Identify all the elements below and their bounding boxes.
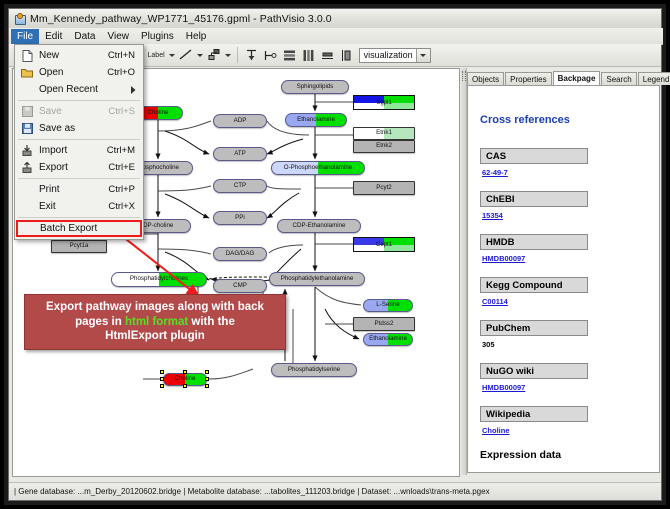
menu-item-print-label: Print	[39, 184, 108, 195]
menu-item-batch-export[interactable]: Batch Export	[16, 220, 142, 237]
tab-objects[interactable]: Objects	[467, 72, 504, 85]
menu-item-open[interactable]: Open Ctrl+O	[15, 64, 143, 81]
window-title: Mm_Kennedy_pathway_WP1771_45176.gpml - P…	[30, 13, 332, 25]
import-icon	[15, 145, 39, 156]
menu-item-exit-shortcut: Ctrl+X	[108, 201, 135, 212]
new-document-icon	[15, 50, 39, 62]
xref-value-wikipedia[interactable]: Choline	[482, 426, 510, 435]
file-menu-dropdown[interactable]: New Ctrl+N Open Ctrl+O Open Recent Save …	[14, 44, 144, 240]
menu-bar: File Edit Data View Plugins Help	[9, 28, 663, 45]
toolbar-divider-2	[237, 47, 238, 63]
xref-value-chebi[interactable]: 15354	[482, 211, 503, 220]
menu-item-save-label: Save	[39, 106, 108, 117]
pathvisio-window: Mm_Kennedy_pathway_WP1771_45176.gpml - P…	[8, 8, 662, 501]
menu-item-print-shortcut: Ctrl+P	[108, 184, 135, 195]
menu-separator-2	[18, 139, 140, 140]
menu-help[interactable]: Help	[180, 29, 213, 44]
status-bar-text: | Gene database: ...m_Derby_20120602.bri…	[14, 487, 490, 496]
cross-references-title: Cross references	[480, 114, 570, 126]
menu-item-open-recent-label: Open Recent	[39, 84, 131, 95]
xref-header-kegg: Kegg Compound	[480, 277, 588, 293]
submenu-arrow-icon	[131, 81, 136, 99]
same-width-icon[interactable]	[319, 47, 336, 64]
annotation-callout-text: Export pathway images along with back pa…	[46, 300, 264, 344]
menu-item-export[interactable]: Export Ctrl+E	[15, 159, 143, 176]
menu-item-new-label: New	[39, 50, 108, 61]
open-folder-icon	[15, 68, 39, 78]
backpage-content: Cross references CAS 62-49-7 ChEBI 15354…	[467, 85, 660, 473]
xref-header-hmdb: HMDB	[480, 234, 588, 250]
align-top-icon[interactable]	[243, 47, 260, 64]
label-tool-text: Label	[146, 52, 167, 59]
menu-separator-3	[18, 178, 140, 179]
menu-item-open-label: Open	[39, 67, 107, 78]
line-icon[interactable]	[178, 47, 195, 64]
line-dropdown-icon[interactable]	[196, 47, 205, 63]
menu-edit[interactable]: Edit	[39, 29, 68, 44]
save-as-disk-icon	[15, 123, 39, 134]
visualization-value: visualization	[364, 50, 413, 60]
menu-item-open-recent[interactable]: Open Recent	[15, 81, 143, 98]
menu-file[interactable]: File	[11, 29, 39, 44]
menu-item-open-shortcut: Ctrl+O	[107, 67, 135, 78]
distribute-horizontal-icon[interactable]	[300, 47, 317, 64]
xref-header-wikipedia: Wikipedia	[480, 406, 588, 422]
xref-header-pubchem: PubChem	[480, 320, 588, 336]
visualization-combobox[interactable]: visualization	[359, 48, 431, 63]
menu-item-export-shortcut: Ctrl+E	[108, 162, 135, 173]
menu-item-export-label: Export	[39, 162, 108, 173]
save-disk-icon	[15, 106, 39, 117]
xref-value-pubchem: 305	[482, 340, 495, 349]
xref-header-nugo: NuGO wiki	[480, 363, 588, 379]
export-icon	[15, 162, 39, 173]
chevron-down-icon-2[interactable]	[416, 49, 430, 62]
xref-value-nugo[interactable]: HMDB00097	[482, 383, 525, 392]
tab-search[interactable]: Search	[601, 72, 636, 85]
same-height-icon[interactable]	[338, 47, 355, 64]
menu-item-import-shortcut: Ctrl+M	[107, 145, 135, 156]
callout-line2-a: pages in	[75, 316, 125, 328]
callout-line2-highlight: html format	[125, 316, 188, 328]
menu-item-save-as[interactable]: Save as	[15, 120, 143, 137]
side-panel-tabs: Objects Properties Backpage Search Legen…	[467, 70, 660, 86]
callout-line2-b: with the	[188, 316, 235, 328]
xref-value-kegg[interactable]: C00114	[482, 297, 508, 306]
menu-item-save-as-label: Save as	[39, 123, 135, 134]
xref-value-hmdb[interactable]: HMDB00097	[482, 254, 525, 263]
tab-properties[interactable]: Properties	[505, 72, 551, 85]
menu-item-import-label: Import	[39, 145, 107, 156]
annotation-callout: Export pathway images along with back pa…	[24, 294, 286, 350]
menu-item-new-shortcut: Ctrl+N	[108, 50, 135, 61]
xref-header-chebi: ChEBI	[480, 191, 588, 207]
menu-separator-4	[18, 217, 140, 218]
menu-item-save: Save Ctrl+S	[15, 103, 143, 120]
expression-data-title: Expression data	[480, 449, 561, 461]
menu-item-exit[interactable]: Exit Ctrl+X	[15, 198, 143, 215]
menu-item-exit-label: Exit	[39, 201, 108, 212]
status-bar: | Gene database: ...m_Derby_20120602.bri…	[9, 482, 661, 500]
align-left-icon[interactable]	[262, 47, 279, 64]
title-bar: Mm_Kennedy_pathway_WP1771_45176.gpml - P…	[9, 9, 661, 29]
tab-backpage[interactable]: Backpage	[553, 71, 601, 86]
menu-data[interactable]: Data	[68, 29, 101, 44]
label-dropdown-icon[interactable]	[168, 47, 177, 63]
distribute-vertical-icon[interactable]	[281, 47, 298, 64]
menu-item-new[interactable]: New Ctrl+N	[15, 47, 143, 64]
menu-item-save-shortcut: Ctrl+S	[108, 106, 135, 117]
menu-item-batch-export-label: Batch Export	[40, 223, 140, 234]
screenshot-frame: Mm_Kennedy_pathway_WP1771_45176.gpml - P…	[0, 0, 670, 509]
xref-header-cas: CAS	[480, 148, 588, 164]
side-panel: Objects Properties Backpage Search Legen…	[461, 68, 660, 475]
pathvisio-app-icon	[14, 13, 26, 25]
interaction-dropdown-icon[interactable]	[224, 47, 233, 63]
menu-view[interactable]: View	[101, 29, 135, 44]
tab-legend[interactable]: Legend	[638, 72, 670, 85]
interaction-icon[interactable]	[206, 47, 223, 64]
xref-value-cas[interactable]: 62-49-7	[482, 168, 508, 177]
callout-line1: Export pathway images along with back	[46, 301, 264, 313]
menu-item-import[interactable]: Import Ctrl+M	[15, 142, 143, 159]
menu-item-print[interactable]: Print Ctrl+P	[15, 181, 143, 198]
label-icon[interactable]: Label	[146, 47, 167, 64]
menu-separator-1	[18, 100, 140, 101]
menu-plugins[interactable]: Plugins	[135, 29, 180, 44]
callout-line3: HtmlExport plugin	[105, 330, 205, 342]
